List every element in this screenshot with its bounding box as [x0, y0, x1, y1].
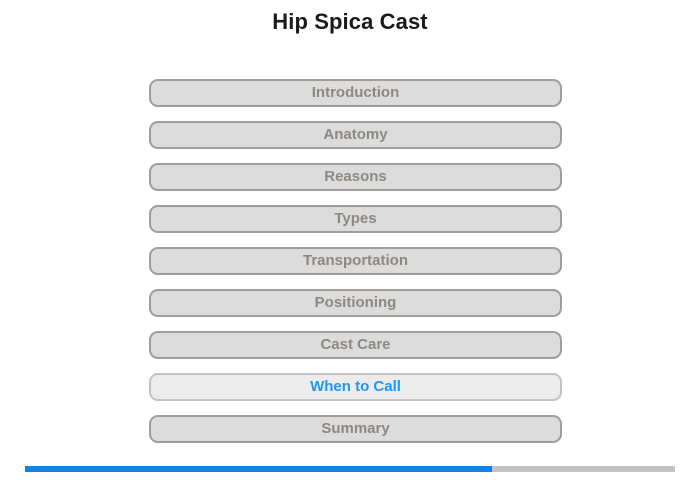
progress-bar-fill — [25, 466, 492, 472]
menu-item-anatomy[interactable]: Anatomy — [149, 121, 562, 149]
menu-item-introduction[interactable]: Introduction — [149, 79, 562, 107]
menu-item-label: Reasons — [324, 169, 387, 185]
menu-item-label: Anatomy — [323, 127, 387, 143]
menu-item-label: Cast Care — [320, 337, 390, 353]
progress-bar-track[interactable] — [25, 466, 675, 472]
menu-item-label: Types — [334, 211, 376, 227]
menu-item-reasons[interactable]: Reasons — [149, 163, 562, 191]
menu-item-summary[interactable]: Summary — [149, 415, 562, 443]
page-title: Hip Spica Cast — [0, 8, 700, 36]
presentation-screen: Hip Spica Cast IntroductionAnatomyReason… — [0, 0, 700, 480]
menu-item-label: Introduction — [312, 85, 399, 101]
menu-item-positioning[interactable]: Positioning — [149, 289, 562, 317]
menu-item-transportation[interactable]: Transportation — [149, 247, 562, 275]
menu-item-label: Positioning — [315, 295, 397, 311]
section-menu-list: IntroductionAnatomyReasonsTypesTransport… — [149, 79, 562, 443]
menu-item-types[interactable]: Types — [149, 205, 562, 233]
menu-item-cast-care[interactable]: Cast Care — [149, 331, 562, 359]
menu-item-when-to-call[interactable]: When to Call — [149, 373, 562, 401]
menu-item-label: Summary — [321, 421, 389, 437]
menu-item-label: Transportation — [303, 253, 408, 269]
menu-item-label: When to Call — [310, 379, 401, 395]
